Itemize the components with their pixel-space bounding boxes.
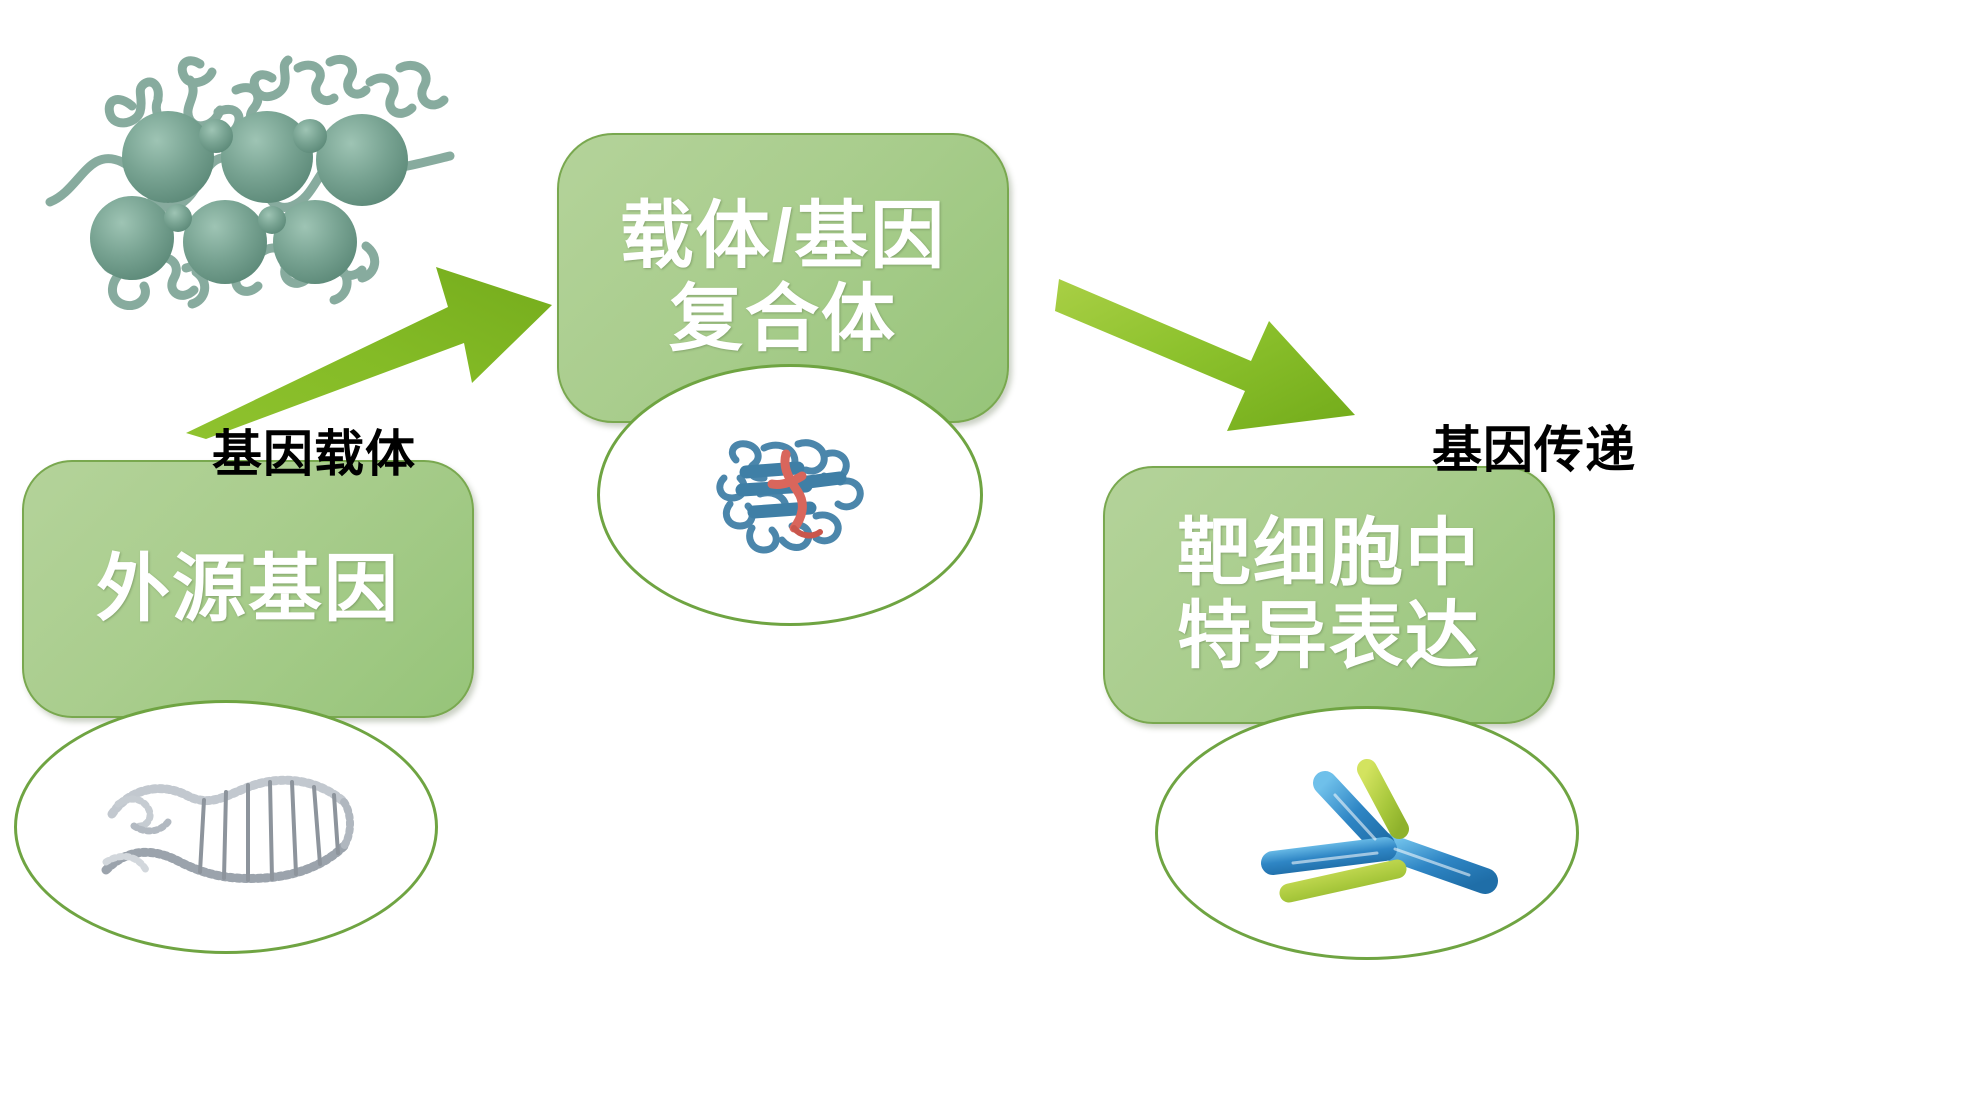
arrow-gene-delivery-icon (1055, 265, 1365, 455)
box-right-line-2: 特异表达 (1177, 595, 1481, 678)
protein-ribbon-icon (690, 420, 890, 570)
ellipse-protein-structure (597, 364, 983, 626)
box-left-line-1: 外源基因 (96, 548, 400, 631)
box-center-line-2: 复合体 (669, 278, 897, 361)
polymer-carrier-illustration (40, 20, 460, 310)
box-center-line-1: 载体/基因 (620, 195, 947, 278)
label-gene-vector: 基因载体 (212, 414, 416, 486)
arrow-gene-vector-icon (180, 255, 580, 440)
antibody-icon (1217, 753, 1517, 913)
box-exogenous-gene[interactable]: 外源基因 (22, 460, 474, 718)
dna-double-helix-icon (76, 752, 376, 902)
diagram-canvas: 载体/基因 复合体 (0, 0, 1987, 1118)
box-right-line-1: 靶细胞中 (1177, 512, 1481, 595)
box-target-cell-expression[interactable]: 靶细胞中 特异表达 (1103, 466, 1555, 724)
ellipse-antibody (1155, 706, 1579, 960)
label-gene-delivery: 基因传递 (1432, 410, 1636, 482)
ellipse-dna-helix (14, 700, 438, 954)
